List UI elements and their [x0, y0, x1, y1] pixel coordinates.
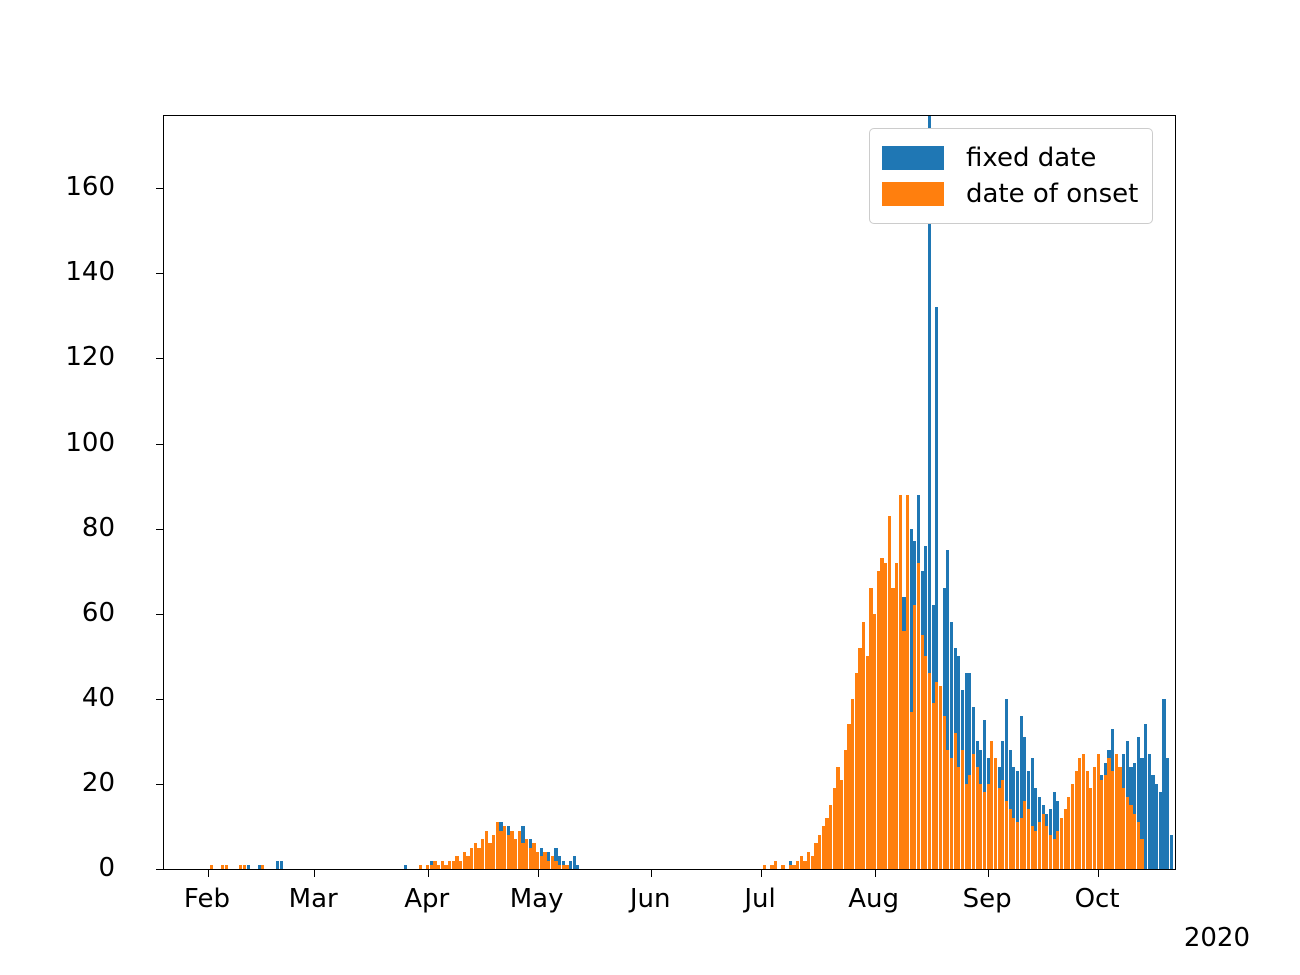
- x-axis-tick-label: Mar: [289, 886, 338, 912]
- bar: [972, 754, 975, 869]
- y-axis-tick-label: 20: [82, 770, 115, 796]
- bar: [818, 835, 821, 869]
- bar: [554, 861, 557, 870]
- bar: [807, 852, 810, 869]
- bar: [770, 865, 773, 869]
- bar: [474, 843, 477, 869]
- bar: [1016, 822, 1019, 869]
- plot-area: [164, 116, 1175, 869]
- bar: [800, 856, 803, 869]
- bar: [507, 835, 510, 869]
- bar: [979, 784, 982, 869]
- bar: [792, 865, 795, 869]
- bar: [796, 861, 799, 870]
- bar: [239, 865, 242, 869]
- bar: [884, 563, 887, 869]
- bar: [998, 788, 1001, 869]
- bar: [488, 843, 491, 869]
- bar: [1038, 822, 1041, 869]
- bar: [441, 861, 444, 870]
- x-axis-tick-label: Aug: [848, 886, 899, 912]
- legend-item-date-of-onset: date of onset: [882, 176, 1138, 212]
- bar: [1129, 805, 1132, 869]
- bar: [1126, 797, 1129, 869]
- bar: [433, 861, 436, 870]
- y-axis-tick: [156, 188, 164, 189]
- bar: [1155, 784, 1158, 869]
- x-axis-tick-label: Sep: [963, 886, 1012, 912]
- bar: [1027, 809, 1030, 869]
- bar: [210, 865, 213, 869]
- bar: [910, 712, 913, 869]
- bar: [1020, 818, 1023, 869]
- y-axis-tick: [156, 529, 164, 530]
- bar: [477, 848, 480, 869]
- y-axis-tick: [156, 784, 164, 785]
- bar: [448, 861, 451, 870]
- x-axis-tick: [428, 869, 429, 877]
- bar: [873, 614, 876, 869]
- bar: [994, 758, 997, 869]
- bar: [774, 861, 777, 870]
- bar: [1166, 758, 1169, 869]
- bar: [543, 852, 546, 869]
- bar: [913, 605, 916, 869]
- bar: [503, 826, 506, 869]
- x-axis-year-label: 2020: [1184, 925, 1250, 951]
- bar: [939, 686, 942, 869]
- y-axis-tick: [156, 869, 164, 870]
- bar: [976, 767, 979, 869]
- bar: [1053, 839, 1056, 869]
- x-axis-tick-label: Feb: [184, 886, 230, 912]
- bar: [932, 703, 935, 869]
- bar: [935, 682, 938, 869]
- bar: [906, 495, 909, 869]
- bar: [466, 856, 469, 869]
- bar: [1005, 801, 1008, 869]
- x-axis-tick: [314, 869, 315, 877]
- bar: [261, 865, 264, 869]
- y-axis-tick-label: 120: [65, 344, 115, 370]
- bar: [957, 767, 960, 869]
- bar: [1137, 822, 1140, 869]
- bar: [276, 861, 279, 870]
- bar: [1078, 758, 1081, 869]
- bar: [1086, 771, 1089, 869]
- bar: [946, 750, 949, 869]
- legend-label-fixed-date: fixed date: [966, 145, 1096, 171]
- figure: 020406080100120140160 FebMarAprMayJunJul…: [0, 0, 1300, 975]
- bar: [419, 865, 422, 869]
- y-axis-tick-label: 140: [65, 259, 115, 285]
- bar: [862, 622, 865, 869]
- x-axis-tick: [208, 869, 209, 877]
- bar: [1056, 831, 1059, 869]
- legend-swatch-fixed-date: [882, 146, 944, 170]
- bar: [1148, 754, 1151, 869]
- bar: [437, 865, 440, 869]
- bar: [917, 563, 920, 869]
- bar: [532, 843, 535, 869]
- y-axis-tick: [156, 358, 164, 359]
- bar: [481, 839, 484, 869]
- bar: [1093, 767, 1096, 869]
- bar: [521, 843, 524, 869]
- y-axis-tick-label: 100: [65, 430, 115, 456]
- bar: [855, 673, 858, 869]
- bar: [811, 856, 814, 869]
- bar: [840, 780, 843, 869]
- bar: [459, 861, 462, 870]
- bar: [1023, 801, 1026, 869]
- bar: [924, 656, 927, 869]
- bar: [891, 588, 894, 869]
- legend-swatch-date-of-onset: [882, 182, 944, 206]
- bar: [928, 673, 931, 869]
- bar: [496, 822, 499, 869]
- bar: [258, 865, 261, 869]
- x-axis-tick: [1098, 869, 1099, 877]
- bar: [1064, 809, 1067, 869]
- bar: [280, 861, 283, 870]
- x-axis-tick: [988, 869, 989, 877]
- bar: [1034, 831, 1037, 869]
- x-axis-tick: [875, 869, 876, 877]
- bar: [1009, 809, 1012, 869]
- bar: [452, 861, 455, 870]
- x-axis-tick-label: Apr: [404, 886, 449, 912]
- y-axis-tick-label: 40: [82, 685, 115, 711]
- bar: [551, 856, 554, 869]
- x-axis-tick: [538, 869, 539, 877]
- bar: [836, 767, 839, 869]
- bar: [781, 865, 784, 869]
- legend-item-fixed-date: fixed date: [882, 140, 1138, 176]
- x-axis-tick-label: Jun: [630, 886, 671, 912]
- bar: [987, 784, 990, 869]
- bar: [1104, 775, 1107, 869]
- bar: [463, 852, 466, 869]
- bar: [1001, 780, 1004, 869]
- bar: [822, 826, 825, 869]
- bar: [877, 571, 880, 869]
- bar: [1107, 758, 1110, 869]
- bar: [1012, 818, 1015, 869]
- bar: [1031, 826, 1034, 869]
- bar: [518, 831, 521, 869]
- bar: [1075, 771, 1078, 869]
- bar: [961, 750, 964, 869]
- y-axis-tick: [156, 699, 164, 700]
- bar: [1060, 818, 1063, 869]
- bar: [430, 865, 433, 869]
- bar: [1115, 754, 1118, 869]
- bar: [1133, 814, 1136, 869]
- bar: [825, 818, 828, 869]
- bar: [983, 792, 986, 869]
- bar: [1071, 784, 1074, 869]
- bar: [1097, 754, 1100, 869]
- bar: [569, 861, 572, 870]
- bar: [899, 495, 902, 869]
- chart-legend: fixed date date of onset: [869, 128, 1153, 224]
- bar: [943, 716, 946, 869]
- bar: [1159, 792, 1162, 869]
- bar: [895, 563, 898, 869]
- bar: [1118, 767, 1121, 869]
- bar: [529, 848, 532, 869]
- bar: [470, 848, 473, 869]
- bar: [547, 861, 550, 870]
- bar: [847, 724, 850, 869]
- bar: [880, 558, 883, 869]
- bar: [866, 656, 869, 869]
- bar: [851, 699, 854, 869]
- bar: [954, 733, 957, 869]
- y-axis-tick: [156, 444, 164, 445]
- bar: [536, 852, 539, 869]
- bar: [1067, 797, 1070, 869]
- bar: [540, 856, 543, 869]
- x-axis-tick: [761, 869, 762, 877]
- bar: [221, 865, 224, 869]
- bar: [844, 750, 847, 869]
- bar: [565, 865, 568, 869]
- bar: [444, 865, 447, 869]
- bar: [1122, 788, 1125, 869]
- bar: [1151, 775, 1154, 869]
- bar: [902, 631, 905, 869]
- bar: [921, 635, 924, 869]
- bar: [243, 865, 246, 869]
- bar: [499, 831, 502, 869]
- bar: [833, 788, 836, 869]
- y-axis-tick-label: 160: [65, 174, 115, 200]
- bar: [968, 775, 971, 869]
- y-axis-tick-label: 60: [82, 600, 115, 626]
- y-axis-tick-label: 0: [98, 855, 115, 881]
- legend-label-date-of-onset: date of onset: [966, 181, 1138, 207]
- bar: [1140, 839, 1143, 869]
- bar: [525, 839, 528, 869]
- plot-axes: [163, 115, 1176, 870]
- x-axis-tick-label: Oct: [1075, 886, 1120, 912]
- x-axis-tick-label: Jul: [744, 886, 775, 912]
- bar: [1049, 835, 1052, 869]
- bar: [485, 831, 488, 869]
- y-axis-tick: [156, 614, 164, 615]
- bar: [789, 865, 792, 869]
- bar: [247, 865, 250, 869]
- bar: [950, 758, 953, 869]
- bar: [1082, 754, 1085, 869]
- bar: [858, 648, 861, 869]
- x-axis-tick-label: May: [510, 886, 564, 912]
- bar: [1089, 788, 1092, 869]
- y-axis-tick-label: 80: [82, 515, 115, 541]
- bar: [558, 865, 561, 869]
- bar: [455, 856, 458, 869]
- bar: [965, 784, 968, 869]
- bar: [225, 865, 228, 869]
- bar: [1100, 780, 1103, 869]
- bar: [763, 865, 766, 869]
- bar: [1170, 835, 1173, 869]
- bar: [510, 831, 513, 869]
- bar: [814, 843, 817, 869]
- bar: [573, 856, 576, 869]
- bar: [888, 516, 891, 869]
- bar: [990, 741, 993, 869]
- bar: [514, 839, 517, 869]
- bar: [576, 865, 579, 869]
- bar: [1162, 699, 1165, 869]
- bar: [1144, 724, 1147, 869]
- bar: [492, 835, 495, 869]
- bar: [562, 865, 565, 869]
- bar: [1111, 771, 1114, 869]
- y-axis-tick: [156, 273, 164, 274]
- bar: [829, 805, 832, 869]
- bar: [1042, 814, 1045, 869]
- x-axis-tick: [651, 869, 652, 877]
- bar: [1045, 826, 1048, 869]
- bar: [803, 861, 806, 870]
- bar: [869, 588, 872, 869]
- bar: [404, 865, 407, 869]
